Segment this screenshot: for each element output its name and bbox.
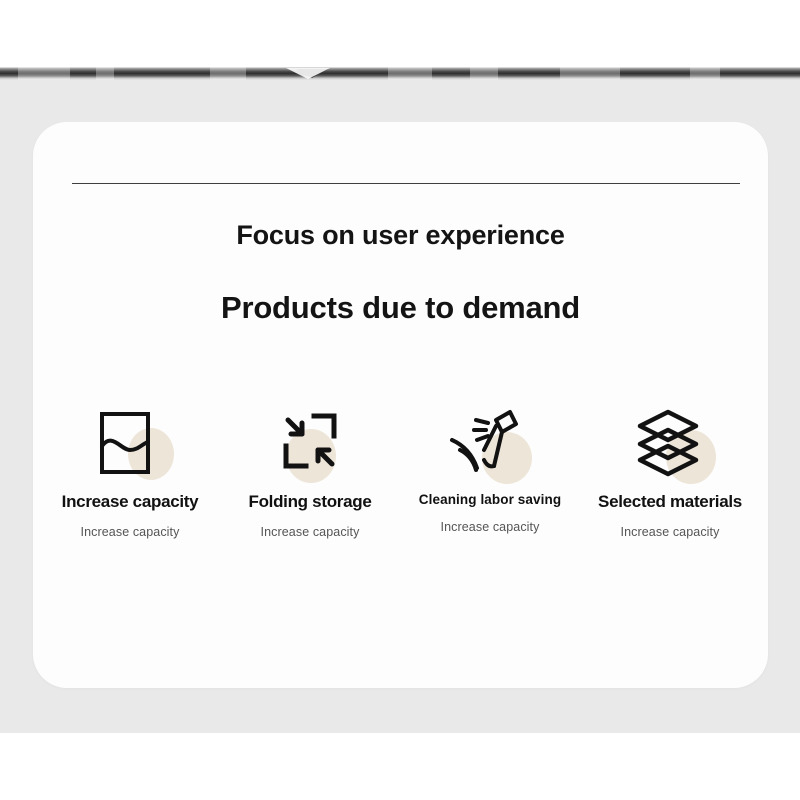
feature-title: Cleaning labor saving (419, 492, 561, 507)
heading-primary: Focus on user experience (33, 218, 768, 252)
feature-title: Increase capacity (62, 492, 199, 512)
product-photo-edge-strip (0, 67, 800, 80)
spray-bottle-icon (444, 404, 536, 480)
feature-icon-wrap (264, 404, 356, 480)
water-level-container-icon (84, 404, 176, 480)
feature-icon-wrap (624, 404, 716, 480)
feature-subtitle: Increase capacity (621, 525, 720, 539)
feature-title: Folding storage (248, 492, 371, 512)
headings-block: Focus on user experience Products due to… (33, 218, 768, 327)
feature-item-selected-materials[interactable]: Selected materials Increase capacity (580, 404, 760, 539)
strip-notch (286, 68, 330, 79)
feature-icon-wrap (444, 404, 536, 480)
feature-list: Increase capacity Increase capacity (40, 404, 760, 539)
stacked-layers-icon (624, 404, 716, 480)
collapse-arrows-icon (264, 404, 356, 480)
feature-icon-wrap (84, 404, 176, 480)
feature-item-folding-storage[interactable]: Folding storage Increase capacity (220, 404, 400, 539)
feature-title: Selected materials (598, 492, 742, 512)
feature-subtitle: Increase capacity (441, 520, 540, 534)
feature-subtitle: Increase capacity (81, 525, 180, 539)
feature-subtitle: Increase capacity (261, 525, 360, 539)
feature-item-increase-capacity[interactable]: Increase capacity Increase capacity (40, 404, 220, 539)
heading-secondary: Products due to demand (33, 289, 768, 327)
feature-item-cleaning-labor-saving[interactable]: Cleaning labor saving Increase capacity (400, 404, 580, 539)
product-feature-page: Focus on user experience Products due to… (0, 0, 800, 800)
card-top-divider (72, 183, 740, 184)
